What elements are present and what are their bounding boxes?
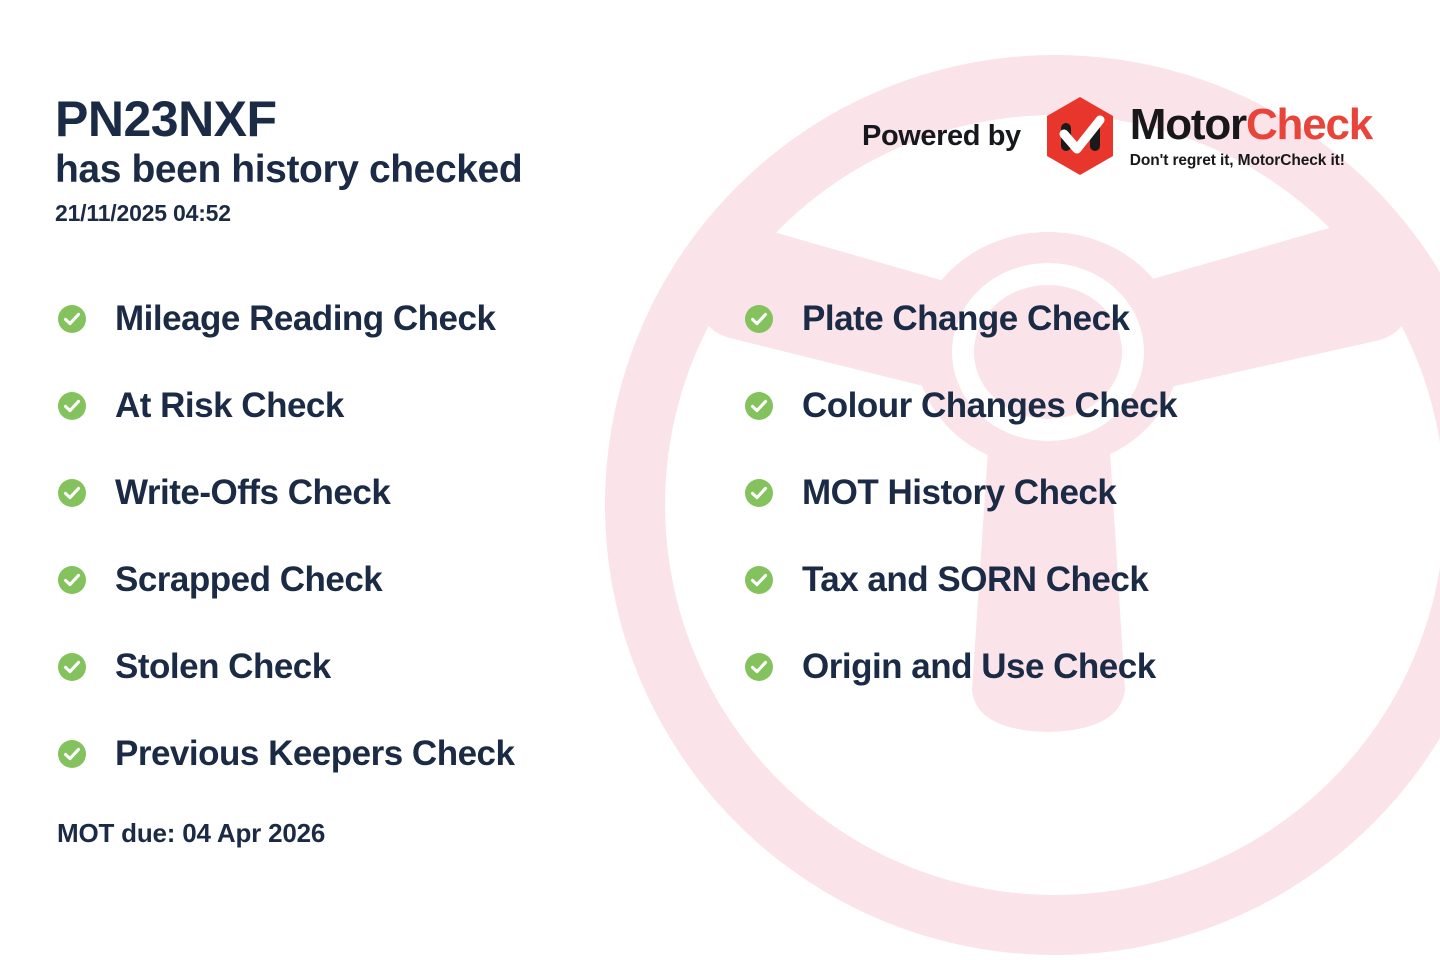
check-item: Scrapped Check	[58, 557, 514, 602]
powered-by-label: Powered by	[862, 120, 1021, 153]
green-check-circle-icon	[745, 566, 773, 594]
check-item: MOT History Check	[745, 470, 1177, 515]
check-item-label: Tax and SORN Check	[802, 562, 1148, 597]
check-list-left-column: Mileage Reading Check At Risk Check Writ…	[58, 296, 514, 776]
check-item-label: Stolen Check	[115, 649, 331, 684]
motorcheck-wordmark: MotorCheck Don't regret it, MotorCheck i…	[1130, 103, 1372, 170]
motorcheck-hexagon-logo-icon	[1044, 96, 1116, 176]
check-list-right-column: Plate Change Check Colour Changes Check …	[745, 296, 1177, 689]
check-item-label: MOT History Check	[802, 475, 1116, 510]
brand-tagline: Don't regret it, MotorCheck it!	[1130, 152, 1372, 170]
wordmark-motor: Motor	[1130, 100, 1246, 149]
check-item: Origin and Use Check	[745, 644, 1177, 689]
green-check-circle-icon	[58, 653, 86, 681]
wordmark-check: Check	[1246, 100, 1372, 149]
check-item: Write-Offs Check	[58, 470, 514, 515]
check-item: Colour Changes Check	[745, 383, 1177, 428]
check-item-label: Previous Keepers Check	[115, 736, 514, 771]
check-item: At Risk Check	[58, 383, 514, 428]
mot-due-date: MOT due: 04 Apr 2026	[57, 818, 325, 849]
check-item: Plate Change Check	[745, 296, 1177, 341]
check-item-label: Colour Changes Check	[802, 388, 1177, 423]
green-check-circle-icon	[745, 305, 773, 333]
check-timestamp: 21/11/2025 04:52	[55, 200, 522, 227]
vehicle-registration: PN23NXF	[55, 92, 522, 146]
green-check-circle-icon	[745, 392, 773, 420]
check-item-label: Origin and Use Check	[802, 649, 1156, 684]
check-item: Stolen Check	[58, 644, 514, 689]
powered-by-branding: Powered by MotorCheck Don't regret it, M…	[862, 96, 1372, 176]
green-check-circle-icon	[745, 479, 773, 507]
green-check-circle-icon	[745, 653, 773, 681]
history-check-summary-card: PN23NXF has been history checked 21/11/2…	[0, 0, 1440, 960]
check-item-label: Mileage Reading Check	[115, 301, 495, 336]
header-block: PN23NXF has been history checked 21/11/2…	[55, 92, 522, 227]
green-check-circle-icon	[58, 305, 86, 333]
green-check-circle-icon	[58, 392, 86, 420]
check-item-label: Write-Offs Check	[115, 475, 390, 510]
check-item: Previous Keepers Check	[58, 731, 514, 776]
check-item: Mileage Reading Check	[58, 296, 514, 341]
green-check-circle-icon	[58, 566, 86, 594]
status-headline: has been history checked	[55, 148, 522, 193]
green-check-circle-icon	[58, 479, 86, 507]
check-item-label: At Risk Check	[115, 388, 344, 423]
check-item-label: Plate Change Check	[802, 301, 1130, 336]
green-check-circle-icon	[58, 740, 86, 768]
check-item-label: Scrapped Check	[115, 562, 382, 597]
check-item: Tax and SORN Check	[745, 557, 1177, 602]
